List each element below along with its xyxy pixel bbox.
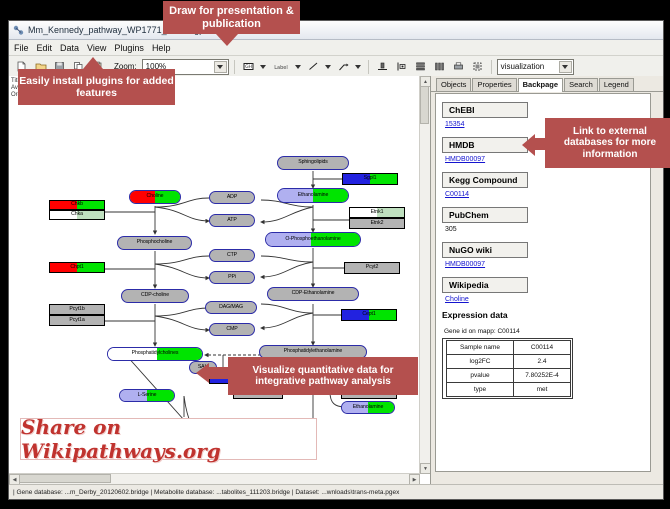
label-icon[interactable]: Label <box>270 58 292 75</box>
hscroll-thumb[interactable] <box>19 474 111 483</box>
table-row: pvalue 7.80252E-4 <box>447 369 571 383</box>
backpage-link-wikipedia[interactable]: Choline <box>445 296 650 303</box>
node-label: O-Phosphoethanolamine <box>285 237 340 242</box>
menu-item-edit[interactable]: Edit <box>37 43 53 53</box>
scroll-right-icon[interactable]: ▶ <box>409 474 420 484</box>
cell-key: type <box>447 383 514 397</box>
align-left-icon[interactable] <box>393 58 410 75</box>
node-label: L-Serine <box>138 393 157 398</box>
node-label: Chkb <box>71 202 83 207</box>
node-label: ADP <box>227 195 237 200</box>
stack-vertical-icon[interactable] <box>412 58 429 75</box>
pathvisio-app-icon <box>13 25 24 36</box>
callout-plugins-arrow-icon <box>83 57 103 69</box>
node-label: ATP <box>227 218 236 223</box>
node-label: PPi <box>228 275 236 280</box>
backpage-link-nugo[interactable]: HMDB00097 <box>445 261 650 268</box>
print-icon[interactable] <box>450 58 467 75</box>
distribute-icon[interactable] <box>431 58 448 75</box>
tab-objects[interactable]: Objects <box>436 78 471 92</box>
node-l-serine-left[interactable]: L-Serine <box>119 389 175 402</box>
interaction-dropdown-icon[interactable] <box>354 58 363 75</box>
callout-link-to-external-databases: Link to external databases for more info… <box>545 118 670 168</box>
node-sphingolipids[interactable]: Sphingolipids <box>277 156 349 170</box>
backpage-header-pubchem: PubChem <box>442 207 528 223</box>
node-chpt1[interactable]: Chpt1 <box>49 262 105 273</box>
node-label: Etnk1 <box>371 210 384 215</box>
node-cdp-ethanolamine[interactable]: CDP-Ethanolamine <box>267 287 359 301</box>
node-pcyt1a[interactable]: Pcyt1a <box>49 315 105 326</box>
node-ppi[interactable]: PPi <box>209 271 255 284</box>
datanode-dropdown-icon[interactable] <box>259 58 268 75</box>
node-label: CTP <box>227 253 237 258</box>
title-bar: Mm_Kennedy_pathway_WP1771_45176.gpml <box>9 21 663 40</box>
line-icon[interactable] <box>305 58 322 75</box>
tab-legend[interactable]: Legend <box>599 78 634 92</box>
callout-share-on-wikipathways: Share on Wikipathways.org <box>20 418 317 460</box>
node-label: Choline <box>147 194 164 199</box>
node-label: Ethanolamine <box>298 193 329 198</box>
node-pcyt1b[interactable]: Pcyt1b <box>49 304 105 315</box>
node-label: Ethanolamine <box>353 405 384 410</box>
node-adp[interactable]: ADP <box>209 191 255 204</box>
visualization-combo[interactable]: visualization <box>497 59 574 75</box>
node-ctp[interactable]: CTP <box>209 249 255 262</box>
node-ethanolamine[interactable]: Ethanolamine <box>277 188 349 203</box>
callout-links-arrow-icon <box>522 134 535 156</box>
cell-value: 7.80252E-4 <box>514 369 571 383</box>
node-phosphocholine[interactable]: Phosphocholine <box>117 236 192 250</box>
node-label: Chpt1 <box>70 265 83 270</box>
menu-item-file[interactable]: File <box>14 43 29 53</box>
expression-table: Sample name C00114 log2FC 2.4 pvalue 7.8… <box>446 340 571 397</box>
callout-visualize-quantitative-data: Visualize quantitative data for integrat… <box>228 357 418 395</box>
menu-item-help[interactable]: Help <box>152 43 171 53</box>
node-chkb[interactable]: Chkb <box>49 200 105 210</box>
node-cdp-choline[interactable]: CDP-choline <box>121 289 189 303</box>
table-row: log2FC 2.4 <box>447 355 571 369</box>
line-dropdown-icon[interactable] <box>324 58 333 75</box>
share-text: Share on Wikipathways.org <box>21 415 316 463</box>
backpage-header-hmdb: HMDB <box>442 137 528 153</box>
chevron-down-icon[interactable] <box>214 61 227 73</box>
node-label: Phosphatidylcholines <box>132 351 179 356</box>
cell-key: pvalue <box>447 369 514 383</box>
expression-data-title: Expression data <box>442 310 650 320</box>
status-bar: | Gene database: ...m_Derby_20120602.bri… <box>9 484 663 499</box>
node-label: DAG/MAG <box>219 305 243 310</box>
callout-draw-for-presentation: Draw for presentation & publication <box>163 1 300 34</box>
node-label: Pcyt1a <box>69 318 84 323</box>
node-sgpl1[interactable]: Sgpl1 <box>342 173 398 185</box>
scroll-down-icon[interactable]: ▼ <box>420 463 431 474</box>
node-label: Chka <box>71 212 83 217</box>
cell-value: met <box>514 383 571 397</box>
node-label: Pcyt2 <box>366 265 378 270</box>
expression-table-wrapper: Sample name C00114 log2FC 2.4 pvalue 7.8… <box>442 338 573 399</box>
table-row: Sample name C00114 <box>447 341 571 355</box>
side-panel-tabs: Objects Properties Backpage Search Legen… <box>431 76 663 92</box>
node-pcyt2[interactable]: Pcyt2 <box>344 262 400 274</box>
node-label: Cept1 <box>362 312 375 317</box>
menu-item-plugins[interactable]: Plugins <box>114 43 144 53</box>
node-label: CDP-choline <box>141 293 169 298</box>
backpage-value-pubchem: 305 <box>445 226 650 233</box>
node-label: Pcyt1b <box>69 307 84 312</box>
group-icon[interactable] <box>469 58 486 75</box>
node-o-phosphoethanolamine[interactable]: O-Phosphoethanolamine <box>265 232 361 247</box>
visualization-value: visualization <box>501 62 545 71</box>
node-chka[interactable]: Chka <box>49 210 105 220</box>
table-row: type met <box>447 383 571 397</box>
callout-quant-arrow-icon <box>196 363 209 383</box>
svg-text:GH: GH <box>245 64 252 70</box>
menu-item-data[interactable]: Data <box>60 43 79 53</box>
datanode-icon[interactable]: GH <box>240 58 257 75</box>
cell-key: Sample name <box>447 341 514 355</box>
node-etnk2[interactable]: Etnk2 <box>349 218 405 229</box>
toolbar-separator-3 <box>491 60 492 74</box>
align-top-icon[interactable] <box>374 58 391 75</box>
toolbar-separator-2 <box>368 60 369 74</box>
svg-text:Label: Label <box>274 65 288 71</box>
interaction-icon[interactable] <box>335 58 352 75</box>
tab-backpage[interactable]: Backpage <box>518 78 563 93</box>
gene-id-on-mapp: Gene id on mapp: C00114 <box>444 328 650 335</box>
cell-value: C00114 <box>514 341 571 355</box>
node-label: CMP <box>226 327 237 332</box>
node-cmp[interactable]: CMP <box>209 323 255 336</box>
canvas-horizontal-scrollbar[interactable]: ◀ ▶ <box>9 473 420 484</box>
canvas-vertical-scrollbar[interactable]: ▲ ▼ <box>419 76 430 474</box>
callout-draw-arrow-icon <box>216 34 238 46</box>
cell-value: 2.4 <box>514 355 571 369</box>
vscroll-thumb[interactable] <box>420 86 429 124</box>
node-phosphatidylcholines[interactable]: Phosphatidylcholines <box>107 347 203 361</box>
callout-easily-install-plugins: Easily install plugins for added feature… <box>18 69 175 105</box>
node-choline-top[interactable]: Choline <box>129 190 181 204</box>
node-dag-mag[interactable]: DAG/MAG <box>205 301 257 314</box>
node-cept1[interactable]: Cept1 <box>341 309 397 321</box>
tab-properties[interactable]: Properties <box>472 78 516 92</box>
callout-quant-arrow-stem <box>208 367 230 379</box>
backpage-header-nugo-wiki: NuGO wiki <box>442 242 528 258</box>
tab-search[interactable]: Search <box>564 78 598 92</box>
screenshot-root: Mm_Kennedy_pathway_WP1771_45176.gpml Fil… <box>0 0 670 509</box>
node-ethanolamine-right[interactable]: Ethanolamine <box>341 401 395 414</box>
backpage-header-wikipedia: Wikipedia <box>442 277 528 293</box>
backpage-header-kegg-compound: Kegg Compound <box>442 172 528 188</box>
label-dropdown-icon[interactable] <box>294 58 303 75</box>
chevron-down-icon-2[interactable] <box>559 61 572 73</box>
node-label: Phosphatidylethanolamine <box>284 349 342 354</box>
backpage-link-kegg[interactable]: C00114 <box>445 191 650 198</box>
node-label: Sphingolipids <box>298 160 328 165</box>
node-etnk1[interactable]: Etnk1 <box>349 207 405 218</box>
toolbar-separator <box>234 60 235 74</box>
menu-bar: File Edit Data View Plugins Help <box>9 40 663 56</box>
node-label: Sgpl1 <box>364 176 377 181</box>
node-label: CDP-Ethanolamine <box>292 291 335 296</box>
node-atp[interactable]: ATP <box>209 214 255 227</box>
backpage-header-chebi: ChEBI <box>442 102 528 118</box>
cell-key: log2FC <box>447 355 514 369</box>
node-label: Etnk2 <box>371 221 384 226</box>
menu-item-view[interactable]: View <box>87 43 106 53</box>
node-label: Phosphocholine <box>137 240 173 245</box>
status-bar-text: | Gene database: ...m_Derby_20120602.bri… <box>13 489 399 496</box>
